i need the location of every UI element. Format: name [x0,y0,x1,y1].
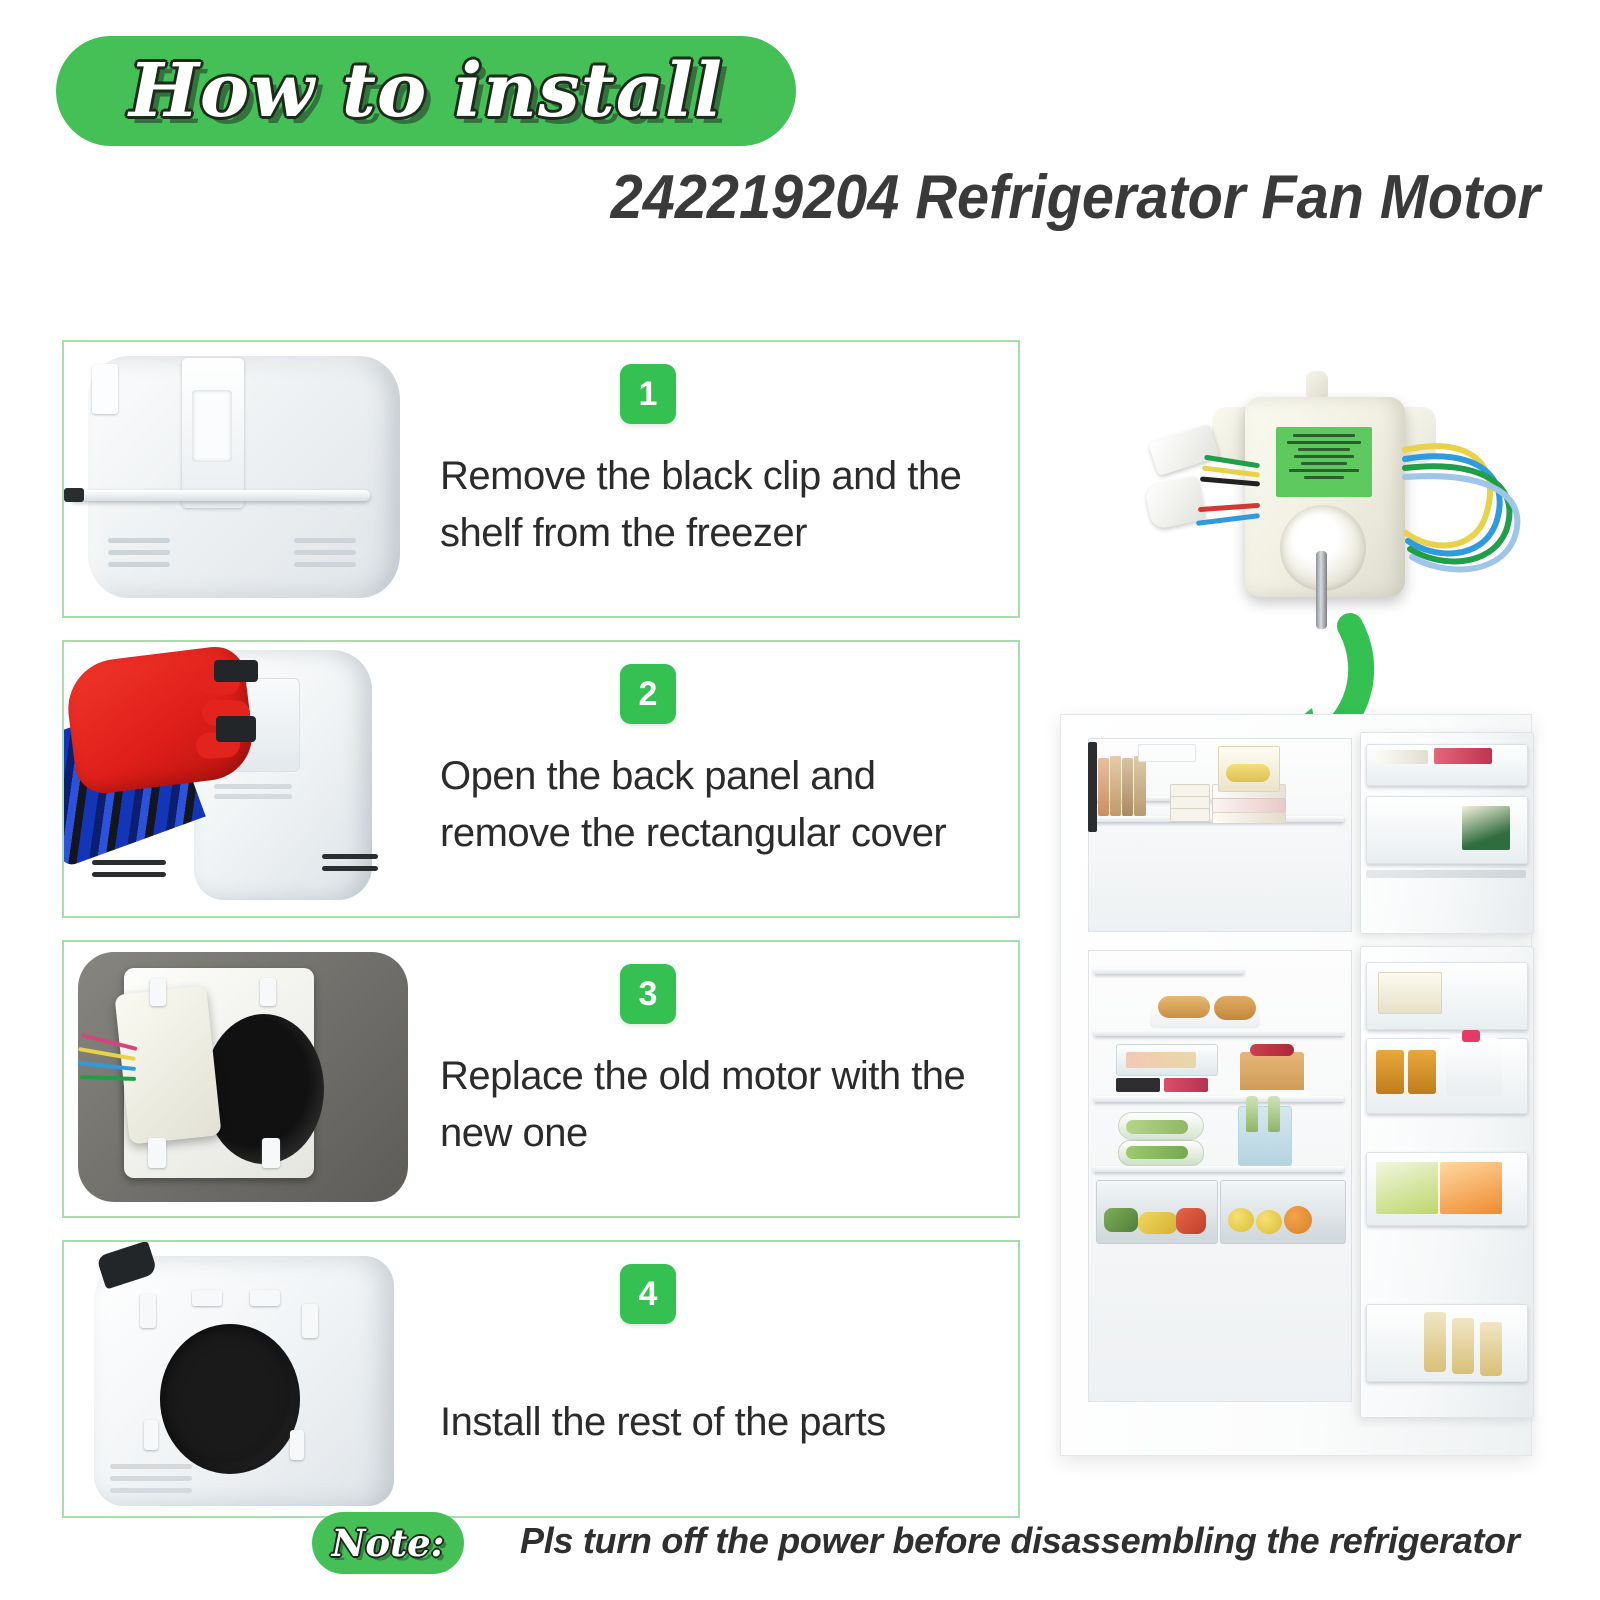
panel-gap-shadow [216,716,256,742]
door-food-package [1376,750,1428,764]
door-food-package [1434,748,1492,764]
freezer-interior-photo [64,342,424,616]
note-pill: Note: [312,1512,464,1574]
vegetable [1176,1208,1206,1234]
step-item-2: 2 Open the back panel and remove the rec… [62,640,1020,918]
freezer-food-item [1098,758,1109,816]
bottle [1268,1096,1280,1132]
vent-slot [322,866,378,871]
vent-slot [92,872,166,877]
fan-opening [160,1324,300,1474]
note-text: Pls turn off the power before disassembl… [520,1520,1520,1562]
bottle [1424,1312,1446,1372]
freezer-food-item [1134,756,1146,816]
fridge-shelf [1094,1030,1344,1036]
freezer-shelf [70,490,370,501]
step-text-1: Remove the black clip and the shelf from… [440,448,998,562]
housing-tab [150,978,166,1006]
page-subtitle: 242219204 Refrigerator Fan Motor [108,162,1540,233]
step-item-1: 1 Remove the black clip and the shelf fr… [62,340,1020,618]
black-clip [64,488,84,502]
steps-list: 1 Remove the black clip and the shelf fr… [62,340,1020,1540]
vegetable [1138,1212,1178,1234]
freezer-panel-recess [192,390,232,462]
step-number-badge-4: 4 [620,1264,676,1324]
vent-slot [294,538,356,543]
step-number-badge-3: 3 [620,964,676,1024]
step-text-3: Replace the old motor with the new one [440,1048,998,1162]
step-4-body: 4 Install the rest of the parts [424,1242,1018,1516]
page-title: How to install [129,48,723,134]
header: How to install 242219204 Refrigerator Fa… [0,0,1600,300]
bottle [1480,1322,1502,1376]
jar [1408,1050,1436,1094]
waffles-box [1170,808,1210,822]
step-1-body: 1 Remove the black clip and the shelf fr… [424,342,1018,616]
vent-slot [214,784,292,789]
vent-slot [294,550,356,555]
produce-contents [1126,1146,1188,1159]
step-number-badge-2: 2 [620,664,676,724]
bottle [1246,1096,1258,1132]
vent-slot [322,854,378,859]
produce-contents [1126,1120,1188,1134]
berries-container [1116,1078,1160,1092]
ice-tray [1138,744,1196,762]
note-row: Note: Pls turn off the power before disa… [0,1500,1600,1590]
fridge-shelf [1094,1166,1344,1172]
milk-jug [1446,1038,1502,1096]
panel-gap-shadow [214,660,258,682]
juice-carton [1440,1162,1502,1214]
vent-slot [110,1476,192,1481]
fan-motor-product-image [1130,355,1580,655]
lemon [1228,1208,1254,1232]
step-text-2: Open the back panel and remove the recta… [440,748,998,862]
step-item-4: 4 Install the rest of the parts [62,1240,1020,1518]
milk-jug-cap [1462,1030,1480,1042]
fridge-shelf [1094,968,1244,974]
vent-slot [110,1464,192,1469]
vent-slot [108,538,170,543]
berries-container [1164,1078,1208,1092]
fridge-door-bin [1366,1304,1528,1382]
freezer-small-cover [92,364,118,414]
frozen-food-package [1212,812,1286,824]
deli-contents [1126,1052,1196,1068]
freezer-food-item [1122,758,1133,816]
vent-slot [294,562,356,567]
croissant [1214,996,1256,1020]
step-item-3: 3 Replace the old motor with the new one [62,940,1020,1218]
motor-wire-loop [1130,355,1580,655]
note-label: Note: [332,1521,445,1565]
orange [1284,1206,1312,1234]
housing-tab [148,1138,166,1168]
freezer-food-item [1110,756,1121,816]
vent-slot [214,794,292,799]
step-text-4: Install the rest of the parts [440,1394,998,1451]
vegetable [1104,1208,1138,1232]
vent-slot [108,562,170,567]
butter-box [1378,972,1442,1014]
refrigerator-illustration [1042,700,1562,1490]
step-3-body: 3 Replace the old motor with the new one [424,942,1018,1216]
housing-tab [260,978,276,1006]
frozen-food-package [1212,798,1286,813]
title-pill: How to install [56,36,796,146]
fan-motor-unit [114,986,221,1145]
freezer-side-shadow [1088,742,1097,832]
cake-strawberries [1250,1044,1294,1056]
gloved-hand-opening-panel-photo [64,642,424,916]
step-number-badge-1: 1 [620,364,676,424]
housing-tab [262,1138,280,1168]
vent-slot [110,1488,192,1493]
vent-slot [92,860,166,865]
juice-carton [1376,1162,1438,1214]
mount-tab [302,1304,318,1338]
bananas [1226,764,1270,782]
sandwich [1158,996,1210,1018]
mount-tab [290,1430,304,1460]
mount-tab [192,1290,222,1306]
mount-tab [250,1290,280,1306]
reassembled-housing-photo [64,1242,424,1516]
door-food-package [1462,806,1510,850]
door-bin-rail [1366,870,1526,878]
step-2-body: 2 Open the back panel and remove the rec… [424,642,1018,916]
mount-tab [140,1294,156,1328]
fan-motor-assembly-photo [64,942,424,1216]
jar [1376,1050,1404,1094]
vent-slot [108,550,170,555]
cake [1240,1052,1304,1092]
lemon [1256,1210,1282,1234]
mount-tab [144,1420,158,1450]
bottle [1452,1318,1474,1374]
